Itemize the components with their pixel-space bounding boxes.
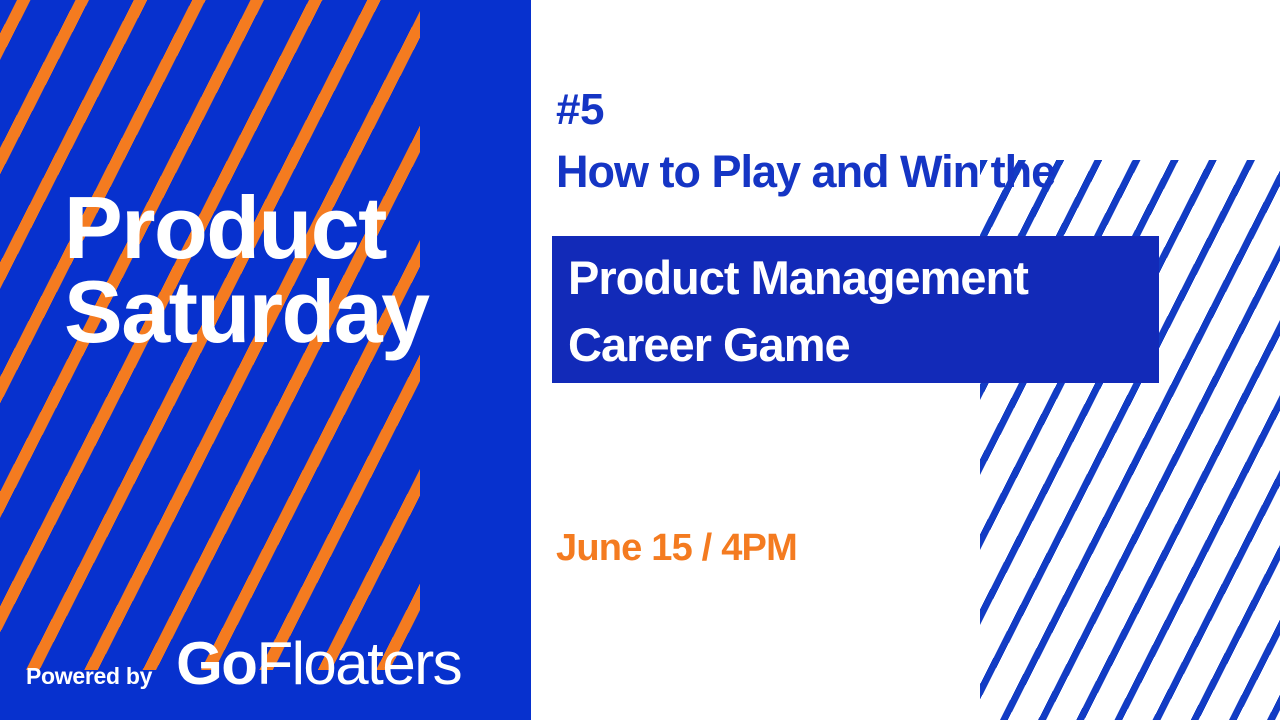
event-poster: Product Saturday Powered by GoFloaters #…	[0, 0, 1280, 720]
event-title-line-1: Product Management	[568, 245, 1159, 312]
gofloaters-logo: GoFloaters	[176, 634, 461, 694]
logo-secondary-text: Floaters	[256, 630, 461, 697]
event-title-highlight: Product Management Career Game	[552, 236, 1159, 383]
logo-primary-text: Go	[176, 630, 256, 697]
right-content-panel: #5 How to Play and Win the Product Manag…	[531, 0, 1280, 720]
powered-by-row: Powered by GoFloaters	[26, 634, 461, 694]
left-brand-panel: Product Saturday Powered by GoFloaters	[0, 0, 531, 720]
brand-title-line-1: Product	[64, 186, 524, 270]
event-date-time: June 15 / 4PM	[556, 529, 797, 567]
event-details: #5 How to Play and Win the Product Manag…	[531, 0, 1280, 720]
brand-title-line-2: Saturday	[64, 270, 524, 354]
event-headline: How to Play and Win the	[556, 148, 1055, 195]
event-title-line-2: Career Game	[568, 312, 1159, 379]
brand-title: Product Saturday	[64, 186, 524, 355]
episode-number: #5	[556, 88, 604, 132]
powered-by-label: Powered by	[26, 663, 152, 690]
